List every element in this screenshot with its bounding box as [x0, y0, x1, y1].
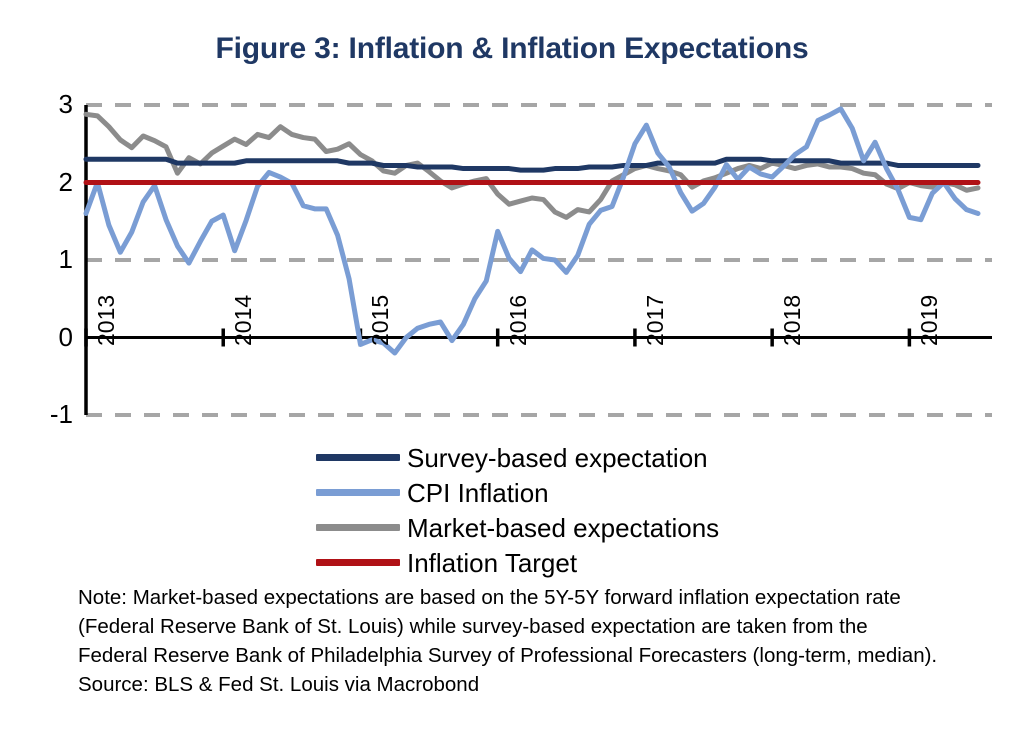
note-line: Source: BLS & Fed St. Louis via Macrobon… [78, 670, 1008, 699]
x-tick-label: 2017 [644, 294, 667, 345]
chart-legend: Survey-based expectationCPI InflationMar… [316, 440, 856, 580]
chart-svg [0, 90, 1024, 435]
legend-item[interactable]: Market-based expectations [316, 510, 856, 545]
note-line: Note: Market-based expectations are base… [78, 583, 1008, 612]
y-tick-label: 3 [31, 91, 73, 117]
legend-label: Survey-based expectation [407, 445, 708, 471]
y-tick-label: 0 [31, 324, 73, 350]
legend-item[interactable]: Survey-based expectation [316, 440, 856, 475]
chart-title: Figure 3: Inflation & Inflation Expectat… [0, 32, 1024, 66]
legend-swatch-market [316, 524, 400, 531]
legend-label: Market-based expectations [407, 515, 719, 541]
plot-area: 3210-1 2013201420152016201720182019 [0, 90, 1024, 435]
figure-note: Note: Market-based expectations are base… [78, 583, 1008, 699]
legend-swatch-survey [316, 454, 400, 461]
axes [86, 105, 992, 415]
y-tick-label: 2 [31, 169, 73, 195]
y-tick-label: -1 [31, 401, 73, 427]
x-tick-label: 2014 [232, 294, 255, 345]
figure-container: Figure 3: Inflation & Inflation Expectat… [0, 0, 1024, 731]
note-line: (Federal Reserve Bank of St. Louis) whil… [78, 612, 1008, 641]
legend-swatch-target [316, 559, 400, 566]
legend-swatch-cpi [316, 489, 400, 496]
series-line-market [86, 114, 978, 217]
y-tick-label: 1 [31, 246, 73, 272]
legend-label: CPI Inflation [407, 480, 549, 506]
data-series [86, 109, 978, 353]
x-tick-label: 2016 [507, 294, 530, 345]
note-line: Federal Reserve Bank of Philadelphia Sur… [78, 641, 1008, 670]
legend-item[interactable]: CPI Inflation [316, 475, 856, 510]
x-tick-label: 2015 [369, 294, 392, 345]
legend-item[interactable]: Inflation Target [316, 545, 856, 580]
gridlines [86, 105, 992, 415]
legend-label: Inflation Target [407, 550, 577, 576]
x-tick-label: 2013 [95, 294, 118, 345]
x-tick-label: 2019 [918, 294, 941, 345]
x-tick-label: 2018 [781, 294, 804, 345]
